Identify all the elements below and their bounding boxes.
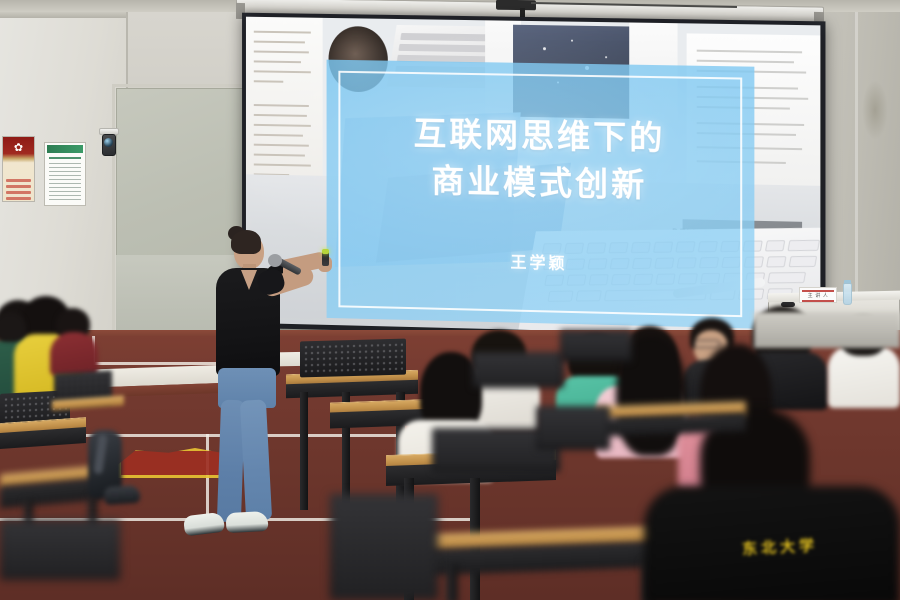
seat-back [300,339,406,378]
camera-lens-icon [104,138,113,147]
seat-back [330,494,438,600]
eyeglasses-icon [694,340,720,348]
slide-title: 互联网思维下的 商业模式创新 [327,109,755,211]
seat-back [536,406,610,450]
rear-equipment-cabinet [754,312,900,348]
student-shoe [103,485,140,505]
projected-slide: DELL [246,17,820,338]
slide-title-card: 互联网思维下的 商业模式创新 王学颖 [327,60,755,329]
laser-pointer-led [322,249,329,254]
seat-back [560,330,632,362]
presenter-shoe-right [226,511,269,533]
projection-screen: DELL [242,13,825,343]
lectern-name-card-text: 主 讲 人 [800,292,836,299]
seat-back [472,352,564,388]
desk-leg [446,564,458,600]
desk-leg [300,392,308,510]
poster-header-band [47,145,83,153]
wall-stain [862,80,888,140]
lectern-name-card: 主 讲 人 [799,287,837,303]
slide-title-line-2: 商业模式创新 [327,156,755,212]
red-poster: ✿ [2,136,35,202]
floor-court-marking [118,448,228,478]
water-bottle [843,283,852,305]
handheld-microphone-head [268,254,282,267]
lecture-hall-photo: ✿ [0,0,900,600]
presenter-hair [231,230,261,254]
seat-back [0,520,120,580]
wall-seam [855,0,858,330]
ceiling-vent [0,12,126,18]
shirt-print-text: 东北大学 [742,534,819,559]
green-header-poster [44,142,86,206]
roller-bracket [496,0,536,10]
poster-emblem-icon: ✿ [12,142,25,155]
slide-title-line-1: 互联网思维下的 [327,109,755,164]
